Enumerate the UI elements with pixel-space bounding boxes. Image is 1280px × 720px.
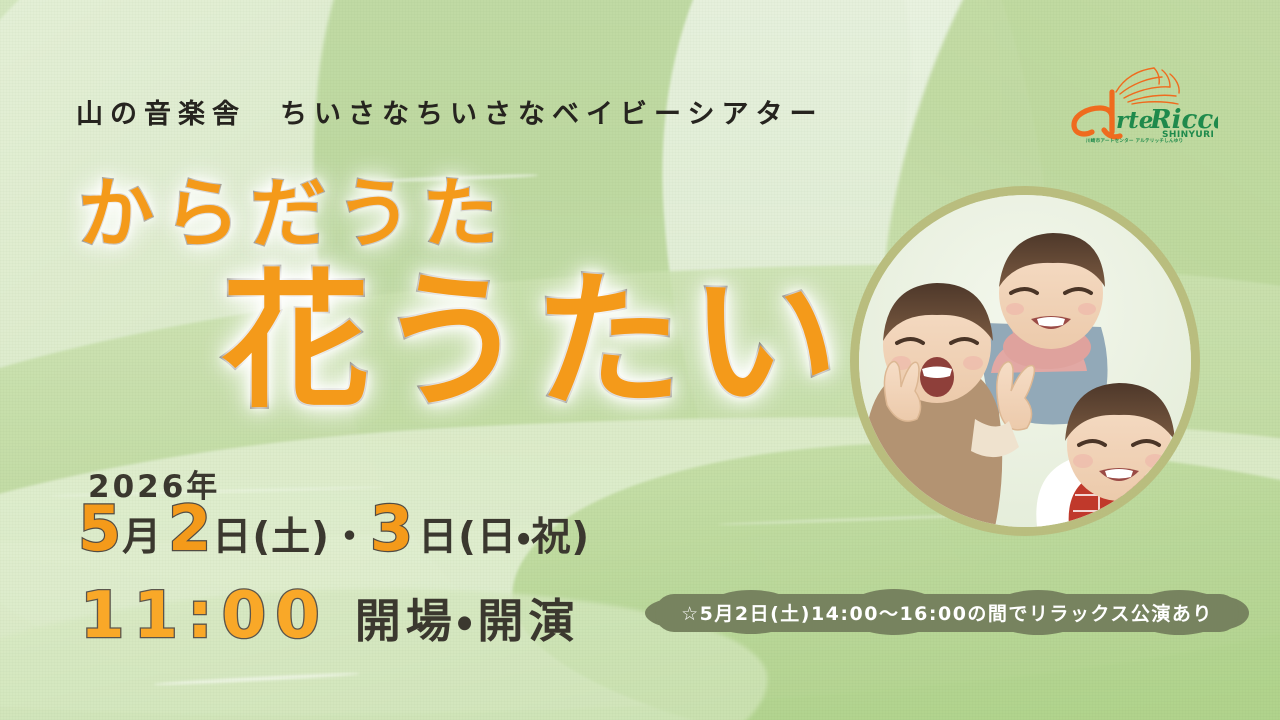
date-day1-weekday: (土) [252, 518, 330, 557]
title-line-karadauta: からだうた [78, 176, 508, 252]
date-day1-number: 2 [168, 498, 212, 560]
date-day2-number: 3 [370, 498, 414, 560]
organization-subtitle: 山の音楽舎 ちいさなちいさなベイビーシアター [76, 92, 823, 131]
time-label: 開場・開演 [355, 598, 580, 644]
baby-photo [859, 195, 1191, 527]
baby-photo-frame [850, 186, 1200, 536]
date-day2-kanji: 日 [418, 518, 458, 557]
date-month-number: 5 [78, 498, 122, 560]
relax-performance-text: ☆5月2日(土)14:00〜16:00の間でリラックス公演あり [645, 588, 1249, 636]
svg-text:rte: rte [1116, 107, 1153, 134]
poster-content: 山の音楽舎 ちいさなちいさなベイビーシアター [0, 0, 1280, 720]
performance-date-line: 5 月 2 日 (土) ・ 3 日 (日・祝) [78, 498, 590, 560]
time-colon: : [187, 584, 222, 648]
time-minute: 00 [222, 584, 329, 648]
date-day1-kanji: 日 [212, 518, 252, 557]
baby-photo-illustration [859, 195, 1191, 527]
logo-artwork: rte Ricca SHINYURI [1058, 58, 1218, 146]
logo-subtext: 川崎市アートセンター アルテリッチしんゆり [1086, 138, 1183, 144]
time-hour: 11 [80, 584, 187, 648]
title-line-hanautai: 花うたい [222, 268, 846, 416]
relax-performance-banner: ☆5月2日(土)14:00〜16:00の間でリラックス公演あり [645, 588, 1249, 636]
poster-canvas: 山の音楽舎 ちいさなちいさなベイビーシアター [0, 0, 1280, 720]
date-separator: ・ [330, 518, 370, 557]
date-day2-weekday: (日・祝) [458, 518, 590, 557]
arte-ricca-logo: rte Ricca SHINYURI 川崎市アートセンター アルテリッチしんゆり [1058, 58, 1218, 146]
performance-time-line: 11 : 00 開場・開演 [80, 584, 579, 648]
date-month-kanji: 月 [122, 518, 162, 557]
